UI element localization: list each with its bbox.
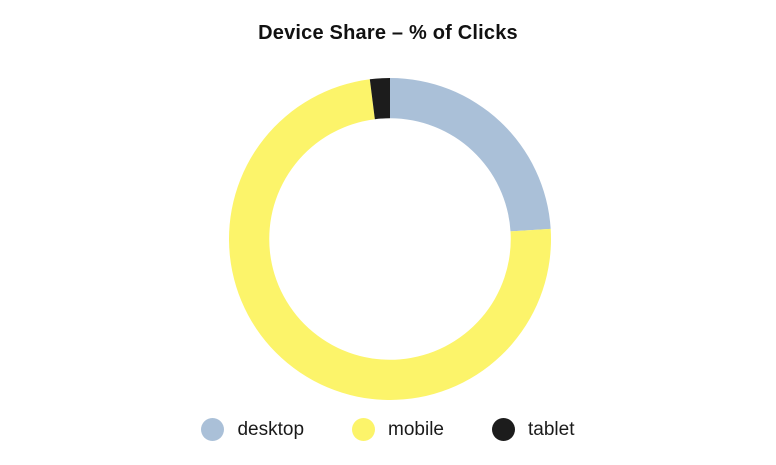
legend-label-tablet: tablet	[528, 419, 574, 441]
donut-chart	[229, 78, 551, 400]
donut-svg	[229, 78, 551, 400]
legend-item-desktop[interactable]: desktop	[201, 418, 304, 441]
legend-item-tablet[interactable]: tablet	[492, 418, 574, 441]
chart-title: Device Share – % of Clicks	[0, 22, 776, 45]
chart-figure: Device Share – % of Clicks desktop mobil…	[0, 0, 776, 465]
legend-label-desktop: desktop	[237, 419, 304, 441]
legend-swatch-tablet	[492, 418, 515, 441]
donut-slice-desktop[interactable]	[390, 78, 551, 231]
legend-item-mobile[interactable]: mobile	[352, 418, 444, 441]
donut-slices	[229, 78, 551, 400]
legend-swatch-desktop	[201, 418, 224, 441]
chart-legend: desktop mobile tablet	[0, 418, 776, 441]
legend-swatch-mobile	[352, 418, 375, 441]
legend-label-mobile: mobile	[388, 419, 444, 441]
